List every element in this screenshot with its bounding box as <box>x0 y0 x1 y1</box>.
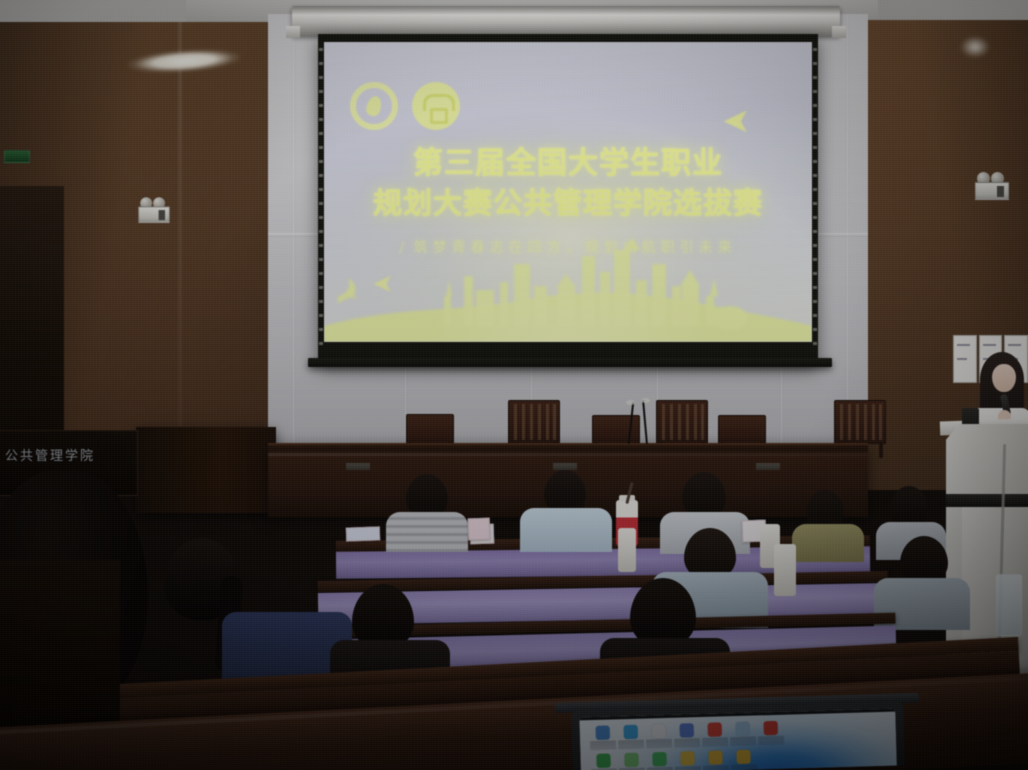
desktop-icon-label <box>758 736 784 746</box>
lecture-hall-photo: ➤ ➤ 第三届全国大学生职业 规划大赛公共管理学院选拔赛 / 筑梦青春志在四方，… <box>0 0 1028 770</box>
chat-icon-glyph <box>596 754 610 768</box>
pdf2-icon[interactable] <box>758 720 785 749</box>
desktop-icon-label <box>730 736 756 746</box>
open-laptop[interactable] <box>571 701 905 770</box>
cloud-icon[interactable] <box>730 721 757 750</box>
desktop-icon-label <box>703 765 729 770</box>
audience-member-light-blue <box>520 470 612 550</box>
side-doorway <box>0 186 64 438</box>
pdf-icon-glyph <box>708 722 722 736</box>
droplet-ring-logo-icon <box>350 82 398 130</box>
projector-screen-housing <box>292 6 840 36</box>
projected-slide: ➤ ➤ 第三届全国大学生职业 规划大赛公共管理学院选拔赛 / 筑梦青春志在四方，… <box>324 42 812 342</box>
windows-desktop-icons[interactable] <box>590 720 785 770</box>
stage-chair <box>718 415 766 444</box>
desktop-icon-label <box>731 764 757 770</box>
desktop-icon-label <box>674 738 700 748</box>
star3-icon-glyph <box>736 750 750 764</box>
slide-title-line2: 规划大赛公共管理学院选拔赛 <box>324 184 812 222</box>
exit-sign <box>4 150 30 163</box>
star3-icon[interactable] <box>730 748 757 770</box>
wechat-icon-glyph <box>624 753 638 767</box>
glass-water-bottle <box>996 574 1022 636</box>
audience-member-striped-sweater <box>386 474 468 548</box>
folder-icon-glyph <box>596 726 610 740</box>
emblem-disc-logo-icon <box>412 82 460 130</box>
stage-chair <box>656 400 708 444</box>
table-nameplate <box>553 463 577 470</box>
notes-icon-glyph <box>680 723 694 737</box>
desktop-icon-label <box>646 739 672 749</box>
white-water-bottle <box>774 544 796 596</box>
media-icon[interactable] <box>646 723 673 752</box>
cloud-icon-glyph <box>736 722 750 736</box>
notes-icon[interactable] <box>674 722 701 751</box>
star2-icon[interactable] <box>702 749 729 770</box>
stage-chair <box>406 414 454 444</box>
audience-member-olive <box>792 490 864 558</box>
microphone-head <box>626 400 635 405</box>
stage-chair <box>592 415 640 444</box>
folder-icon[interactable] <box>590 724 617 753</box>
dove-icon: ➤ <box>722 104 751 138</box>
podium-trim-band <box>946 494 1028 507</box>
chat-icon[interactable] <box>590 752 617 770</box>
whatsapp-icon[interactable] <box>646 751 673 770</box>
table-nameplate <box>346 463 370 470</box>
desktop-icon-label <box>675 766 701 770</box>
desktop-icon-label <box>702 737 728 747</box>
desktop-icon-label <box>590 740 616 750</box>
department-sign-text: 公共管理学院 <box>5 445 95 464</box>
laptop-lid <box>571 701 905 770</box>
slide-bottom-glow <box>324 232 812 342</box>
star2-icon-glyph <box>708 750 722 764</box>
stage-chair <box>508 400 560 444</box>
slide-title-line1: 第三届全国大学生职业 <box>413 146 723 181</box>
paper-handout <box>468 518 491 541</box>
microphone-head <box>641 398 650 403</box>
presenter-face <box>992 364 1016 392</box>
wechat-icon[interactable] <box>618 752 645 770</box>
slide-logos <box>350 82 460 130</box>
projector-screen-frame: ➤ ➤ 第三届全国大学生职业 规划大赛公共管理学院选拔赛 / 筑梦青春志在四方，… <box>318 34 818 364</box>
slide-title: 第三届全国大学生职业 规划大赛公共管理学院选拔赛 <box>324 144 812 222</box>
browser-icon[interactable] <box>618 724 645 753</box>
white-water-bottle <box>618 528 636 572</box>
table-nameplate <box>756 463 780 470</box>
emergency-exit-light <box>975 172 1009 202</box>
paper-handout <box>346 526 380 541</box>
laptop-screen[interactable] <box>579 709 896 770</box>
emergency-exit-light <box>138 197 169 225</box>
stage-chair <box>834 400 886 444</box>
media-icon-glyph <box>652 724 666 738</box>
desktop-icon-label <box>618 740 644 750</box>
projector-screen-weight-bar <box>308 358 832 367</box>
browser-icon-glyph <box>624 725 638 739</box>
pdf2-icon-glyph <box>764 721 778 735</box>
screen-perforation-right <box>812 42 818 354</box>
pdf-icon[interactable] <box>702 721 729 750</box>
wall-light-reflection-2 <box>960 36 990 58</box>
whatsapp-icon-glyph <box>652 752 666 766</box>
star-icon[interactable] <box>674 750 701 770</box>
star-icon-glyph <box>680 751 694 765</box>
